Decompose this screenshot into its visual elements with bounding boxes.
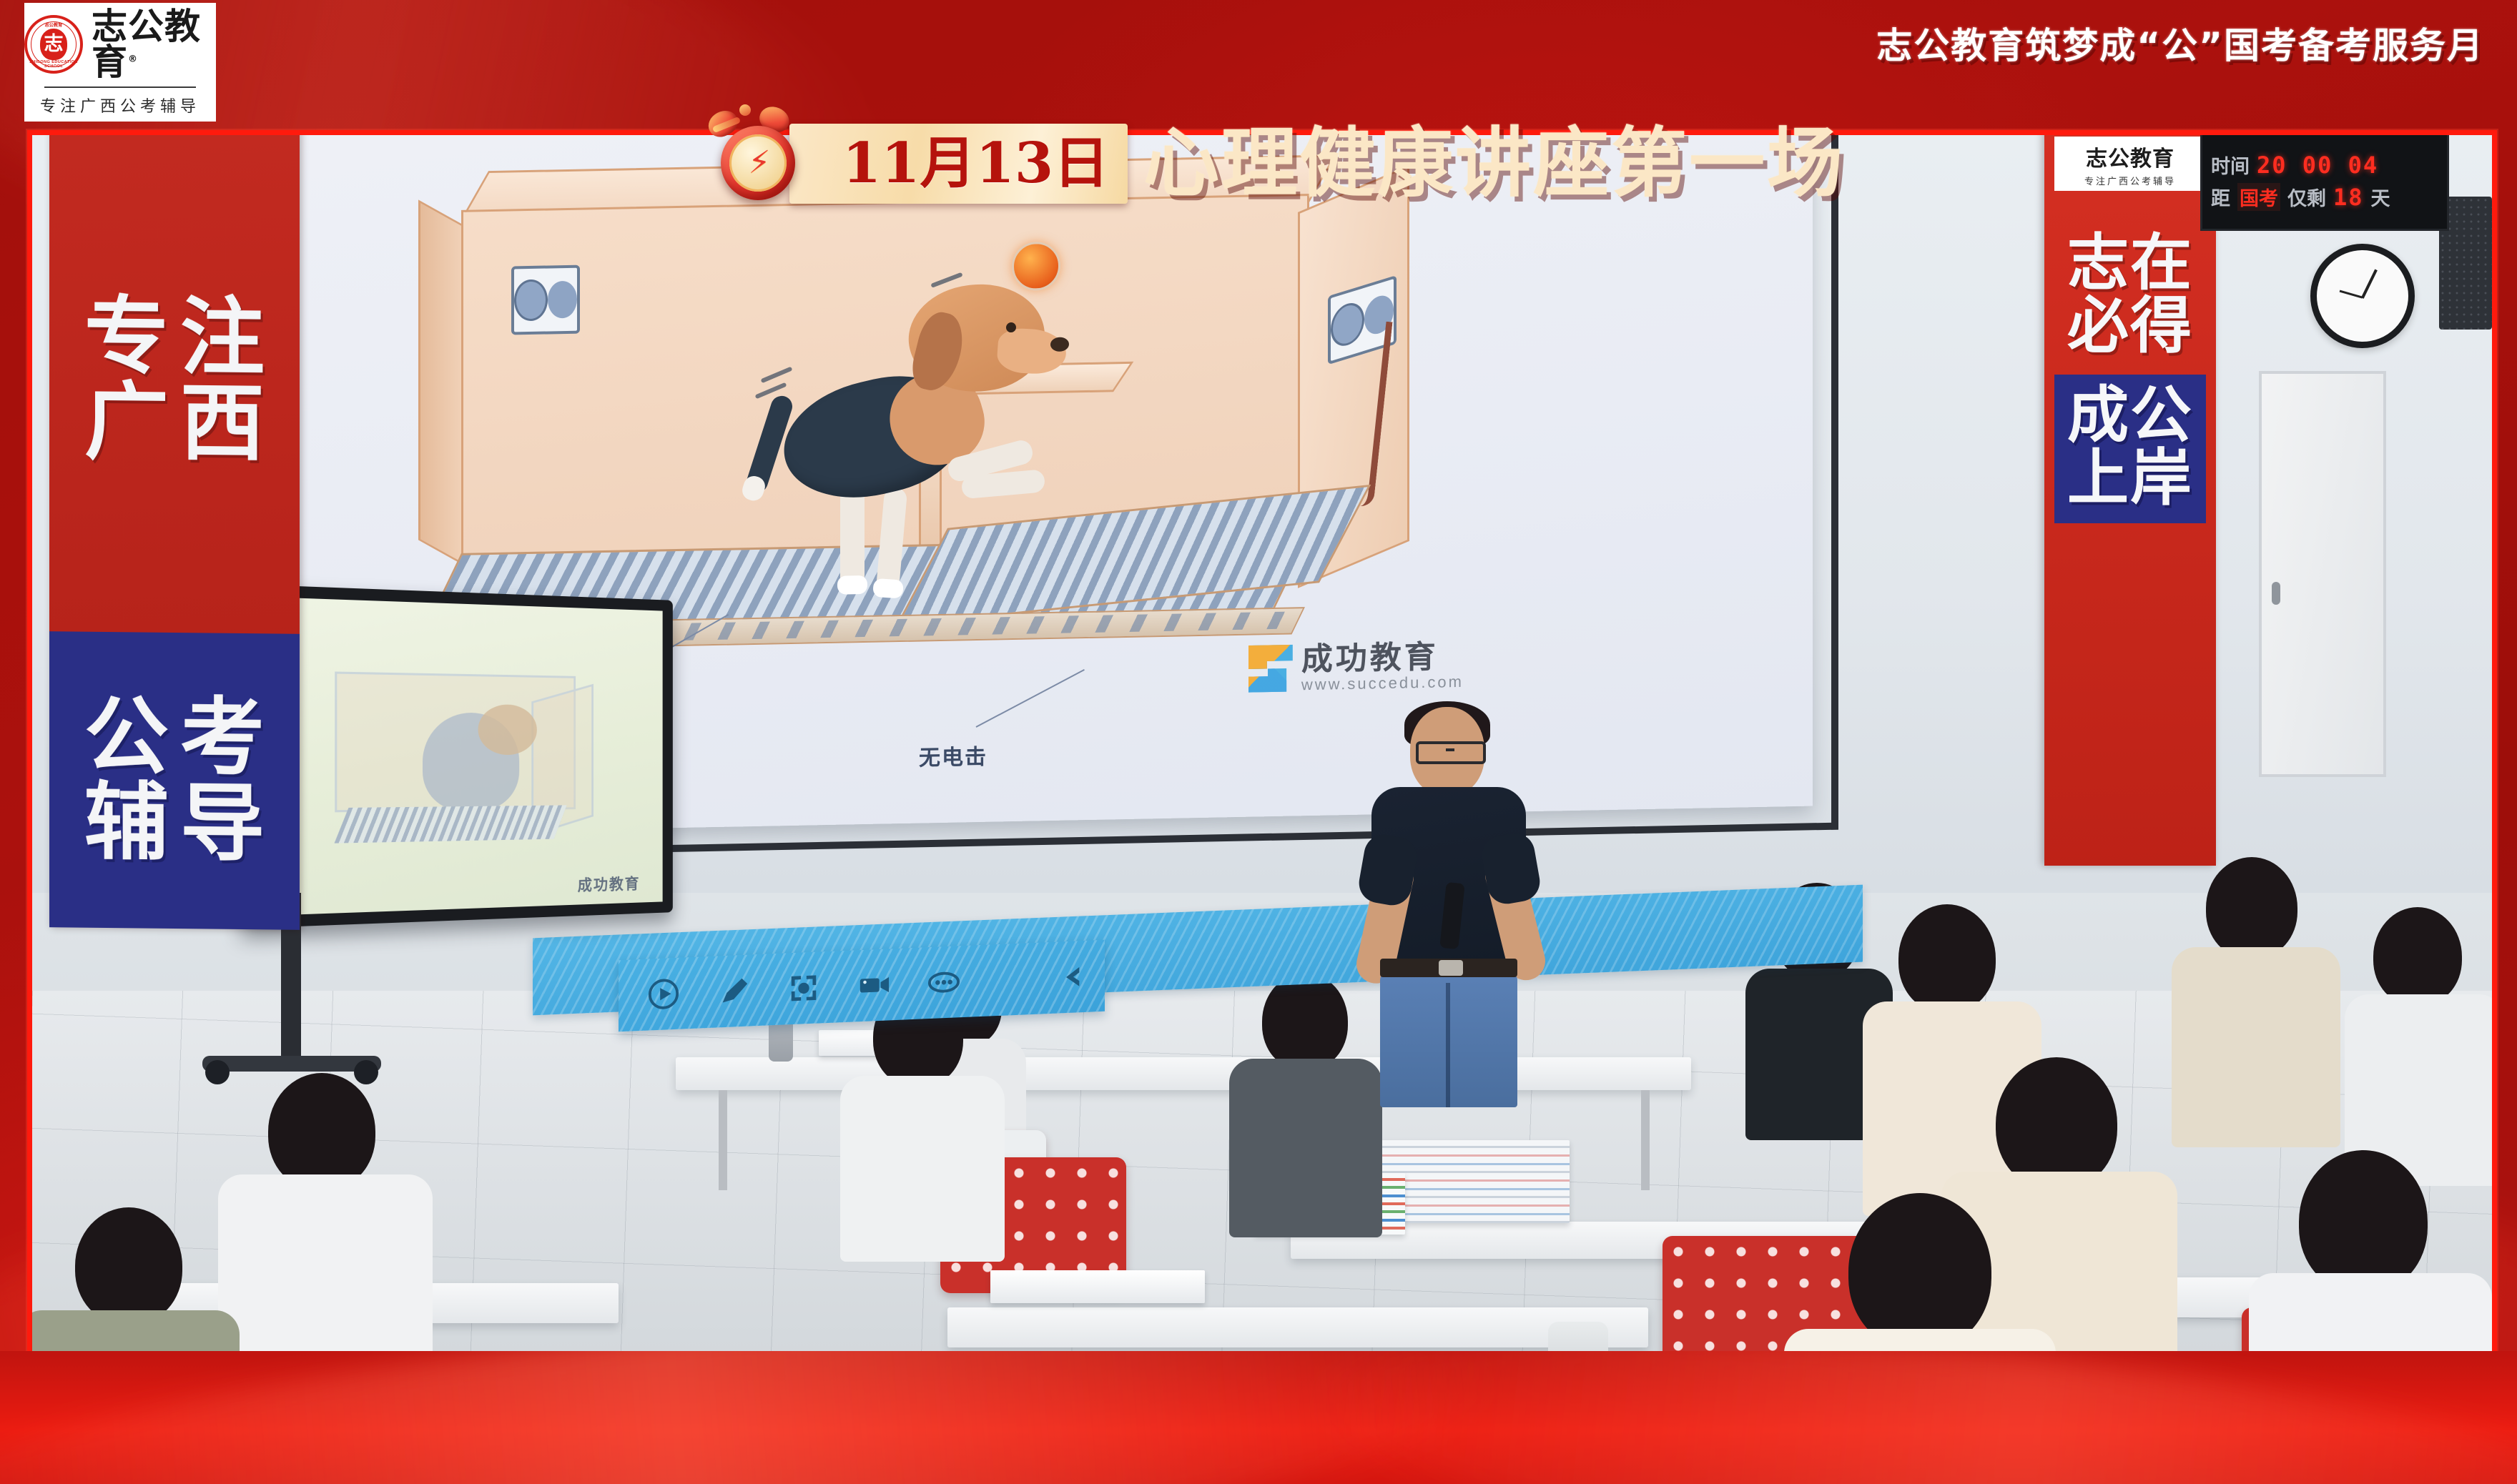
led-time-row: 时间 20 00 04 bbox=[2211, 151, 2438, 179]
led-countdown-display: 时间 20 00 04 距 国考 仅剩 18 天 bbox=[2200, 135, 2449, 231]
led-countdown-unit: 天 bbox=[2371, 183, 2390, 211]
speaker-glasses bbox=[1416, 741, 1486, 764]
poster-bottom-band bbox=[0, 1351, 2517, 1484]
book-stack-tall bbox=[1376, 1140, 1570, 1223]
back-arrow-icon[interactable] bbox=[1059, 962, 1088, 992]
slide-watermark-text: 成功教育 www.succedu.com bbox=[1301, 640, 1464, 693]
banner-left-red-section: 专 注 广 西 bbox=[49, 135, 300, 633]
clock-face bbox=[729, 134, 787, 192]
speaker-jeans bbox=[1380, 973, 1517, 1107]
banner-left-char-2: 注 bbox=[180, 296, 265, 380]
student-head bbox=[75, 1207, 182, 1325]
slide-label-no-shock: 无电击 bbox=[919, 739, 987, 772]
seal-top-text: 志公教育 bbox=[27, 21, 80, 28]
brand-name-text: 志公教育 bbox=[92, 6, 201, 83]
student-body bbox=[2249, 1273, 2492, 1357]
student-head bbox=[268, 1073, 375, 1190]
student-body bbox=[840, 1076, 1005, 1262]
banner-right-slogan-top: 志在必得 bbox=[2044, 232, 2216, 357]
banner-right-tagline: 专注广西公考辅导 bbox=[2084, 174, 2176, 187]
student-body bbox=[218, 1174, 433, 1357]
student-head bbox=[2299, 1150, 2428, 1293]
smartboard-dog-head bbox=[478, 704, 537, 755]
brand-tagline: 专注广西公考辅导 bbox=[40, 94, 200, 117]
date-badge-text: 11月13日 bbox=[842, 136, 1109, 192]
event-photo: 时间 20 00 04 距 国考 仅剩 18 天 bbox=[32, 135, 2492, 1357]
play-icon[interactable] bbox=[647, 977, 680, 1011]
banner-left-char-5: 公 bbox=[84, 696, 169, 779]
brand-seal-icon: 志公教育 志 ZHIGONG EDUCATION SCHOOL bbox=[24, 15, 83, 74]
led-countdown-exam: 国考 bbox=[2237, 183, 2280, 211]
dog-back-leg-right bbox=[876, 487, 908, 593]
slide-watermark: 成功教育 www.succedu.com bbox=[1248, 640, 1464, 694]
desk-leg bbox=[1641, 1090, 1650, 1190]
desk-front-mid bbox=[947, 1307, 1648, 1347]
led-countdown-prefix: 距 bbox=[2211, 183, 2230, 211]
banner-left-red-text: 专 注 广 西 bbox=[84, 295, 265, 465]
led-countdown-days: 18 bbox=[2333, 184, 2364, 211]
led-countdown-row: 距 国考 仅剩 18 天 bbox=[2211, 183, 2438, 211]
banner-left-char-4: 西 bbox=[180, 382, 265, 465]
banner-left-char-1: 专 bbox=[84, 295, 169, 379]
trademark-symbol: ® bbox=[128, 54, 138, 64]
banner-left-char-6: 考 bbox=[180, 696, 265, 780]
watermark-en: www.succedu.com bbox=[1301, 673, 1464, 693]
motion-line-3 bbox=[930, 272, 962, 288]
brand-logo-card: 志公教育 志 ZHIGONG EDUCATION SCHOOL 志公教育® 专注… bbox=[24, 3, 216, 122]
smartboard-slide bbox=[315, 649, 617, 870]
event-photo-frame: 时间 20 00 04 距 国考 仅剩 18 天 bbox=[27, 130, 2497, 1362]
clock-knob bbox=[739, 104, 751, 116]
student-head bbox=[1996, 1057, 2117, 1190]
more-icon[interactable] bbox=[927, 965, 960, 999]
dog-nose bbox=[1050, 337, 1069, 351]
student-head bbox=[2373, 907, 2462, 1006]
banner-right: 志公教育 专注广西公考辅导 志在必得 成公上岸 bbox=[2044, 135, 2216, 866]
motion-line-1 bbox=[761, 367, 793, 384]
header-subtitle: 志公教育筑梦成“公”国考备考服务月 bbox=[1876, 17, 2484, 69]
smartboard-screen: 成功教育 bbox=[253, 596, 662, 916]
student-head bbox=[2206, 857, 2297, 959]
succedu-logo-icon bbox=[1248, 645, 1293, 693]
smartboard-grid bbox=[334, 805, 566, 843]
seal-arc-text: ZHIGONG EDUCATION SCHOOL bbox=[27, 60, 80, 69]
wall-clock bbox=[2310, 244, 2415, 348]
speaker-belt-buckle bbox=[1439, 960, 1463, 976]
banner-left: 专 注 广 西 公 考 辅 导 bbox=[49, 135, 300, 930]
logo-top-row: 志公教育 志 ZHIGONG EDUCATION SCHOOL 志公教育® bbox=[24, 9, 216, 80]
smartboard-base bbox=[202, 1056, 381, 1072]
logo-divider bbox=[44, 86, 196, 88]
watermark-cn: 成功教育 bbox=[1301, 640, 1464, 677]
date-badge: 11月13日 bbox=[789, 124, 1128, 204]
banner-left-char-3: 广 bbox=[84, 380, 169, 464]
banner-right-slogan-bottom: 成公上岸 bbox=[2054, 375, 2206, 523]
led-time-label: 时间 bbox=[2211, 151, 2250, 179]
banner-left-char-7: 辅 bbox=[84, 781, 169, 864]
video-camera-icon[interactable] bbox=[857, 968, 890, 1002]
banner-right-header: 志公教育 专注广西公考辅导 bbox=[2054, 137, 2206, 191]
student-head bbox=[1262, 973, 1348, 1070]
screenshot-icon[interactable] bbox=[787, 971, 820, 1005]
shock-dial-left-icon bbox=[511, 265, 580, 335]
brand-name: 志公教育® bbox=[92, 9, 216, 80]
paper-stack-front bbox=[990, 1270, 1205, 1303]
student-body bbox=[2172, 947, 2340, 1147]
banner-left-blue-text: 公 考 辅 导 bbox=[84, 696, 265, 866]
led-countdown-mid: 仅剩 bbox=[2287, 183, 2326, 211]
dog-illustration bbox=[754, 262, 1090, 605]
poster-root: 志公教育 志 ZHIGONG EDUCATION SCHOOL 志公教育® 专注… bbox=[0, 0, 2517, 1484]
banner-left-blue-section: 公 考 辅 导 bbox=[49, 631, 300, 930]
banner-right-brand: 志公教育 bbox=[2086, 141, 2174, 172]
student-head bbox=[1898, 904, 1996, 1013]
speaker-person bbox=[1359, 707, 1552, 1107]
header-main-row: 11月13日 心理健康讲座第一场 bbox=[708, 120, 1845, 207]
seal-character: 志 bbox=[40, 29, 67, 60]
alarm-clock-icon bbox=[708, 107, 808, 207]
banner-left-char-8: 导 bbox=[180, 782, 265, 866]
pen-icon[interactable] bbox=[717, 974, 750, 1009]
desk-leg bbox=[719, 1090, 727, 1190]
smartboard-watermark: 成功教育 bbox=[578, 872, 641, 896]
smartboard-display: 成功教育 bbox=[241, 584, 673, 929]
leader-line-no-shock bbox=[976, 669, 1085, 728]
page-title: 心理健康讲座第一场 bbox=[1143, 126, 1845, 202]
student-head bbox=[1848, 1193, 1991, 1350]
led-time-value: 20 00 04 bbox=[2257, 152, 2378, 179]
classroom-door bbox=[2259, 371, 2386, 777]
